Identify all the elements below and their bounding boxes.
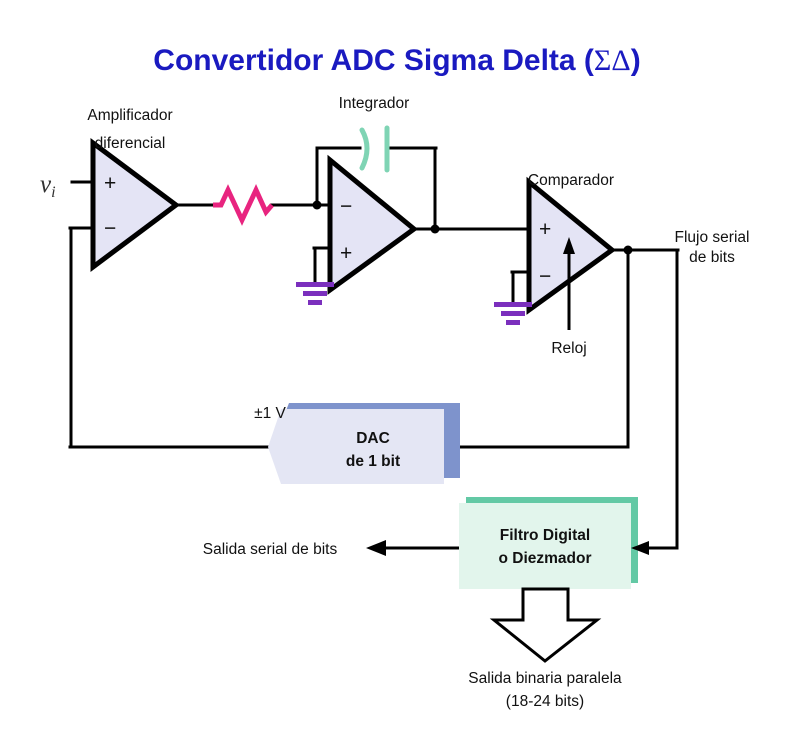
resistor bbox=[213, 190, 272, 220]
clock-label: Reloj bbox=[551, 340, 586, 357]
integrator-body[interactable] bbox=[330, 160, 414, 290]
page-title-symbols: ΣΔ bbox=[594, 44, 631, 77]
page-title-close: ) bbox=[631, 44, 641, 77]
comparator-plus-sign: + bbox=[539, 218, 551, 241]
amp-minus-sign: − bbox=[104, 217, 116, 240]
serial-flow-label-line1: Flujo serial bbox=[675, 229, 750, 246]
page-title-main: Convertidor ADC Sigma Delta ( bbox=[153, 44, 594, 77]
ground-comparator bbox=[494, 302, 532, 325]
junction-integrator-output bbox=[431, 225, 440, 234]
page-title: Convertidor ADC Sigma Delta (ΣΔ) bbox=[153, 44, 640, 77]
capacitor bbox=[362, 128, 387, 170]
dac-label-line2: de 1 bit bbox=[346, 453, 400, 470]
serial-output-label: Salida serial de bits bbox=[203, 541, 338, 558]
differential-amplifier[interactable]: + − bbox=[93, 143, 176, 267]
amplifier-label-line2: diferencial bbox=[95, 135, 166, 152]
resistor-zigzag bbox=[213, 190, 272, 220]
filter-body[interactable] bbox=[459, 503, 631, 589]
diagram-canvas: Convertidor ADC Sigma Delta (ΣΔ) bbox=[0, 0, 794, 746]
ground-bar-3 bbox=[308, 300, 322, 305]
amplifier-label-line1: Amplificador bbox=[87, 107, 172, 124]
ground-bar-2 bbox=[303, 291, 327, 296]
parallel-output-label-line2: (18-24 bits) bbox=[506, 693, 584, 710]
junction-integrator-input bbox=[313, 201, 322, 210]
capacitor-curved-plate bbox=[362, 130, 367, 168]
filter-label-line2: o Diezmador bbox=[498, 550, 591, 567]
digital-filter-block[interactable]: Filtro Digital o Diezmador bbox=[459, 497, 638, 589]
integrator[interactable]: − + bbox=[330, 160, 414, 290]
dac-label-line1: DAC bbox=[356, 430, 390, 447]
serial-flow-label-line2: de bits bbox=[689, 249, 735, 266]
parallel-output-arrow bbox=[494, 589, 597, 661]
dac-block[interactable]: DAC de 1 bit bbox=[268, 403, 460, 484]
ground-bar-3 bbox=[506, 320, 520, 325]
integrator-plus-sign: + bbox=[340, 242, 352, 265]
ground-bar-1 bbox=[494, 302, 532, 307]
ground-bar-1 bbox=[296, 282, 334, 287]
comparator-minus-sign: − bbox=[539, 265, 551, 288]
parallel-output-label-line1: Salida binaria paralela bbox=[468, 670, 622, 687]
dac-voltage-label: ±1 V bbox=[254, 405, 286, 422]
ground-bar-2 bbox=[501, 311, 525, 316]
parallel-output-arrow-shape bbox=[494, 589, 597, 661]
filter-output-arrowhead bbox=[366, 540, 386, 556]
differential-amplifier-body[interactable] bbox=[93, 143, 176, 267]
filter-label-line1: Filtro Digital bbox=[500, 527, 590, 544]
amp-plus-sign: + bbox=[104, 172, 116, 195]
integrator-minus-sign: − bbox=[340, 195, 352, 218]
integrator-label: Integrador bbox=[339, 95, 410, 112]
comparator-label: Comparador bbox=[528, 172, 614, 189]
junction-comparator-output bbox=[624, 246, 633, 255]
input-signal-label: vi bbox=[40, 171, 56, 201]
